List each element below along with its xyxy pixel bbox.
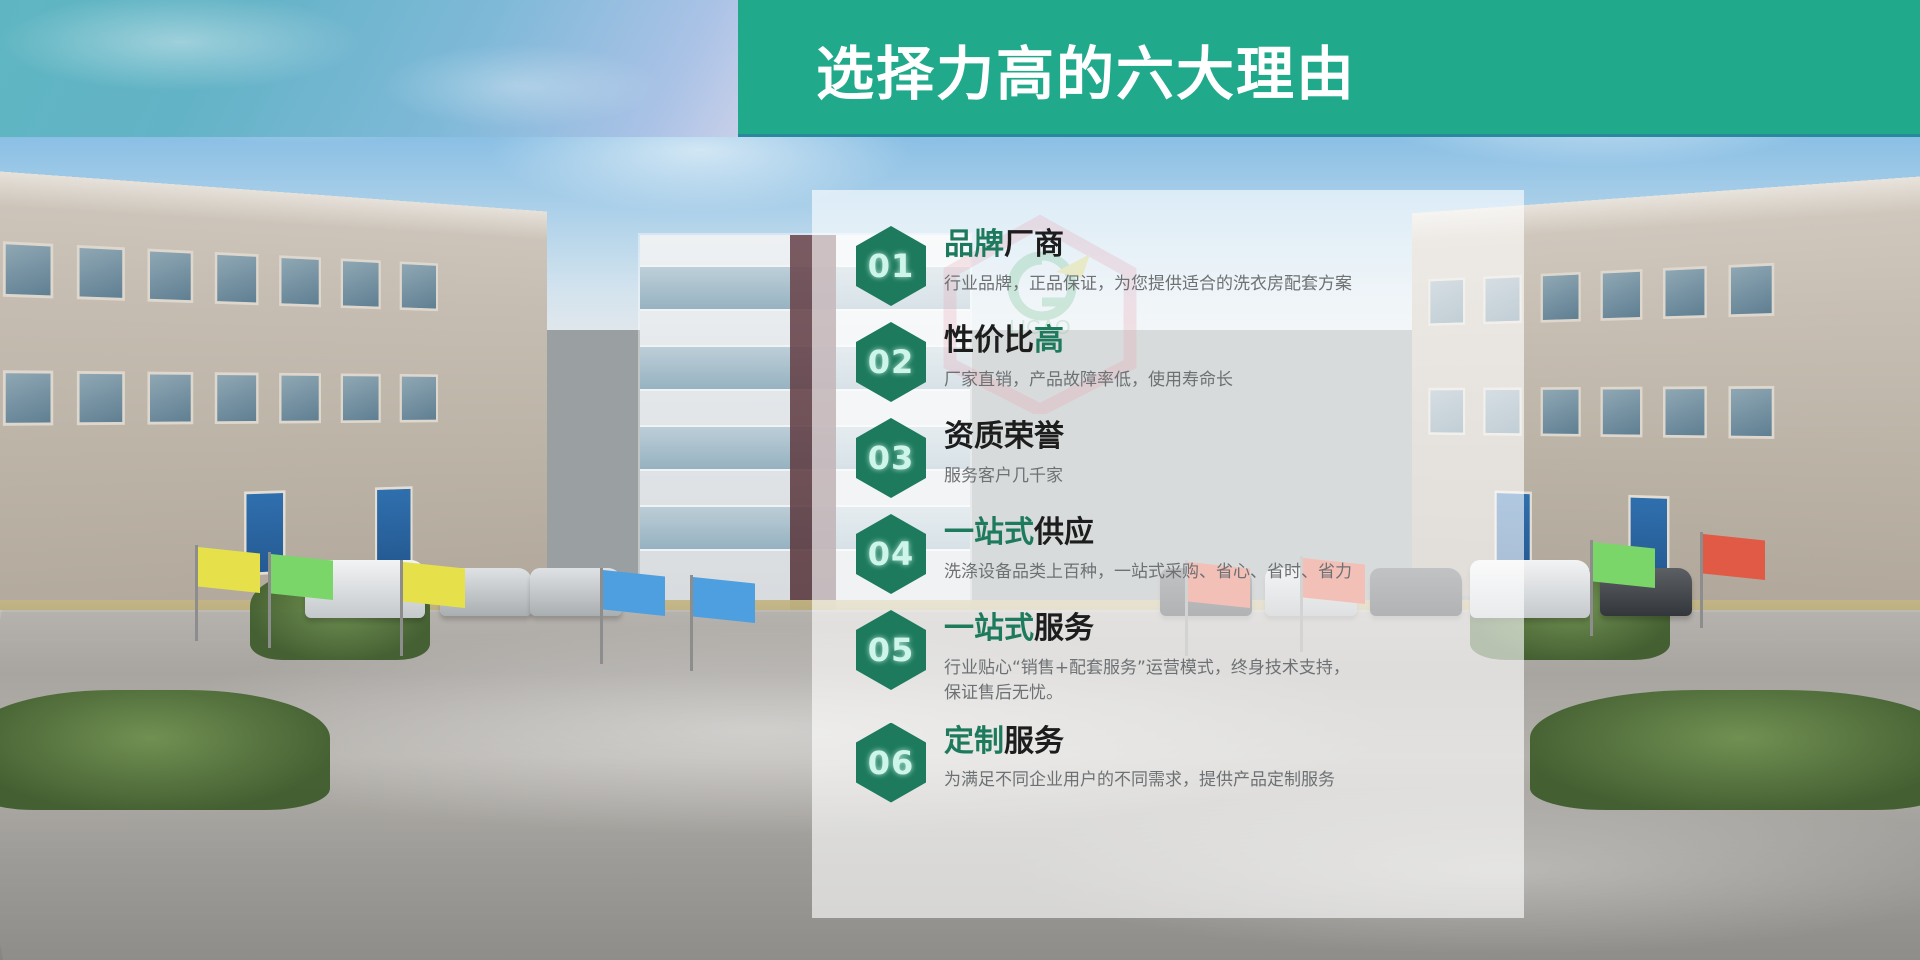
hex-badge: 03	[856, 418, 926, 498]
item-text: 定制服务 为满足不同企业用户的不同需求，提供产品定制服务	[944, 721, 1335, 794]
item-title: 定制服务	[944, 725, 1335, 760]
flag-pole	[1590, 540, 1593, 636]
window	[215, 252, 259, 305]
list-item[interactable]: 04 一站式供应 洗涤设备品类上百种，一站式采购、省心、省时、省力	[812, 512, 1524, 594]
window	[341, 258, 381, 309]
window	[400, 261, 438, 311]
window	[1541, 272, 1581, 323]
item-title: 品牌厂商	[944, 228, 1352, 263]
window	[400, 374, 438, 423]
window	[1663, 386, 1707, 438]
window	[1601, 269, 1643, 321]
item-description: 服务客户几千家	[944, 464, 1064, 490]
flag-cloth	[693, 577, 755, 623]
blue-door	[375, 486, 413, 568]
item-text: 品牌厂商 行业品牌，正品保证，为您提供适合的洗衣房配套方案	[944, 224, 1352, 297]
window	[215, 372, 259, 424]
page-title: 选择力高的六大理由	[816, 27, 1356, 111]
window	[1728, 263, 1774, 317]
hexagon-icon: 01	[856, 226, 926, 306]
item-text: 一站式供应 洗涤设备品类上百种，一站式采购、省心、省时、省力	[944, 512, 1352, 585]
hex-badge: 04	[856, 514, 926, 594]
item-number: 01	[868, 247, 915, 285]
flag-cloth	[403, 562, 465, 608]
window	[3, 241, 53, 298]
window-row	[0, 240, 547, 315]
item-title-dark: 厂商	[1004, 227, 1064, 262]
window	[147, 372, 193, 425]
list-item[interactable]: 06 定制服务 为满足不同企业用户的不同需求，提供产品定制服务	[812, 721, 1524, 803]
flag-pole	[400, 560, 403, 656]
header-sky-panel	[0, 0, 738, 137]
shrub	[1530, 690, 1920, 810]
item-number: 02	[868, 343, 915, 381]
item-title: 一站式服务	[944, 612, 1350, 647]
list-item[interactable]: 05 一站式服务 行业贴心“销售+配套服务”运营模式，终身技术支持， 保证售后无…	[812, 608, 1524, 707]
item-description: 行业贴心“销售+配套服务”运营模式，终身技术支持， 保证售后无忧。	[944, 656, 1350, 707]
item-title-accent: 品牌	[944, 227, 1004, 262]
item-title-accent: 一站式	[944, 611, 1034, 646]
item-number: 04	[868, 535, 915, 573]
item-title: 性价比高	[944, 324, 1233, 359]
item-description: 行业品牌，正品保证，为您提供适合的洗衣房配套方案	[944, 272, 1352, 298]
item-text: 性价比高 厂家直销，产品故障率低，使用寿命长	[944, 320, 1233, 393]
flag-cloth	[1703, 534, 1765, 580]
header-title-bar: 选择力高的六大理由	[738, 0, 1920, 137]
window	[77, 371, 125, 425]
flag-pole	[195, 545, 198, 641]
hexagon-icon: 02	[856, 322, 926, 402]
item-description: 厂家直销，产品故障率低，使用寿命长	[944, 368, 1233, 394]
item-description: 为满足不同企业用户的不同需求，提供产品定制服务	[944, 768, 1335, 794]
reasons-list: 01 品牌厂商 行业品牌，正品保证，为您提供适合的洗衣房配套方案 02 性价比高	[812, 224, 1524, 803]
flag-cloth	[1593, 542, 1655, 588]
item-number: 03	[868, 439, 915, 477]
flag-cloth	[603, 570, 665, 616]
item-title-accent: 定制	[944, 724, 1004, 759]
hexagon-icon: 03	[856, 418, 926, 498]
window	[341, 373, 381, 423]
item-title: 一站式供应	[944, 516, 1352, 551]
item-title: 资质荣誉	[944, 420, 1064, 455]
flag-pole	[600, 568, 603, 664]
list-item[interactable]: 02 性价比高 厂家直销，产品故障率低，使用寿命长	[812, 320, 1524, 402]
item-text: 一站式服务 行业贴心“销售+配套服务”运营模式，终身技术支持， 保证售后无忧。	[944, 608, 1350, 707]
window	[1601, 387, 1643, 438]
hex-badge: 01	[856, 226, 926, 306]
hexagon-icon: 06	[856, 723, 926, 803]
window	[77, 245, 125, 301]
window	[147, 249, 193, 304]
item-number: 05	[868, 631, 915, 669]
item-title-dark: 性价比	[944, 323, 1034, 358]
window	[279, 255, 321, 307]
hex-badge: 02	[856, 322, 926, 402]
item-title-dark: 服务	[1034, 611, 1094, 646]
flag-pole	[1700, 532, 1703, 628]
item-title-dark: 服务	[1004, 724, 1064, 759]
flag-cloth	[198, 547, 260, 593]
item-title-accent: 一站式	[944, 515, 1034, 550]
item-description: 洗涤设备品类上百种，一站式采购、省心、省时、省力	[944, 560, 1352, 586]
window	[279, 373, 321, 424]
item-title-dark: 资质荣誉	[944, 419, 1064, 454]
flag-cloth	[271, 554, 333, 600]
header: 选择力高的六大理由	[0, 0, 1920, 137]
item-title-accent: 高	[1034, 323, 1064, 358]
flag-pole	[268, 552, 271, 648]
flag-pole	[690, 575, 693, 671]
hexagon-icon: 04	[856, 514, 926, 594]
hexagon-icon: 05	[856, 610, 926, 690]
item-number: 06	[868, 744, 915, 782]
window-row	[0, 370, 547, 426]
item-title-dark: 供应	[1034, 515, 1094, 550]
header-underline	[738, 134, 1920, 137]
list-item[interactable]: 01 品牌厂商 行业品牌，正品保证，为您提供适合的洗衣房配套方案	[812, 224, 1524, 306]
window	[1663, 266, 1707, 319]
window	[3, 370, 53, 426]
reasons-panel: LIGAO 01 品牌厂商 行业品牌，正品保证，为您提供适合的洗衣房配套方案 0…	[812, 190, 1524, 918]
window	[1728, 386, 1774, 439]
list-item[interactable]: 03 资质荣誉 服务客户几千家	[812, 416, 1524, 498]
window	[1541, 387, 1581, 437]
hex-badge: 06	[856, 723, 926, 803]
hex-badge: 05	[856, 610, 926, 690]
shrub	[0, 690, 330, 810]
item-text: 资质荣誉 服务客户几千家	[944, 416, 1064, 489]
